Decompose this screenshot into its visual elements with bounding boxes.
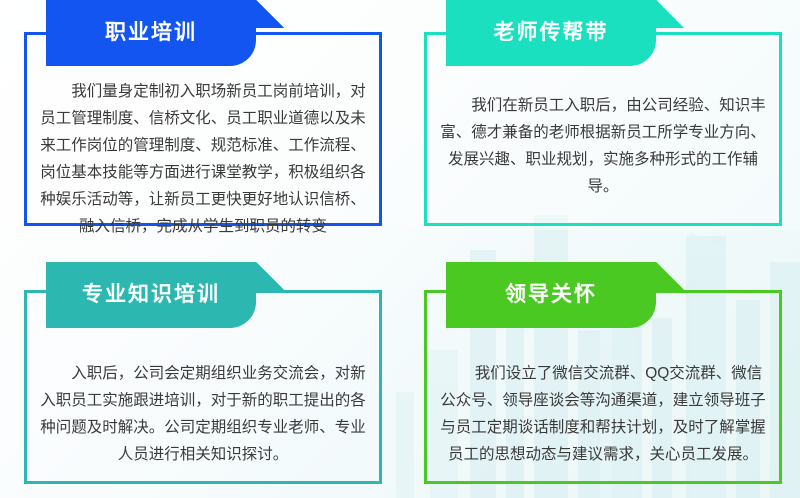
- card-title: 职业培训: [105, 22, 197, 43]
- card-body-text: 入职后，公司会定期组织业务交流会，对新入职员工实施跟进培训，对于新的职工提出的各…: [36, 360, 370, 468]
- ribbon-body: 老师传帮带: [446, 0, 656, 66]
- ribbon-fold-triangle: [256, 262, 284, 290]
- ribbon-fold-triangle: [256, 0, 284, 28]
- ribbon-body: 职业培训: [46, 0, 256, 66]
- ribbon-fold-triangle: [656, 0, 684, 28]
- card-body-text: 我们设立了微信交流群、QQ交流群、微信公众号、领导座谈会等沟通渠道，建立领导班子…: [436, 360, 770, 468]
- card-title: 领导关怀: [505, 284, 597, 305]
- card-title: 老师传帮带: [494, 22, 609, 43]
- card-body-text: 我们在新员工入职后，由公司经验、知识丰富、德才兼备的老师根据新员工所学专业方向、…: [436, 92, 770, 200]
- ribbon-body: 领导关怀: [446, 262, 656, 328]
- ribbon-body: 专业知识培训: [46, 262, 256, 328]
- card-title: 专业知识培训: [82, 284, 220, 305]
- slide-canvas: 职业培训 我们量身定制初入职场新员工岗前培训，对员工管理制度、信桥文化、员工职业…: [0, 0, 800, 498]
- card-body-text: 我们量身定制初入职场新员工岗前培训，对员工管理制度、信桥文化、员工职业道德以及未…: [36, 78, 370, 240]
- ribbon-fold-triangle: [656, 262, 684, 290]
